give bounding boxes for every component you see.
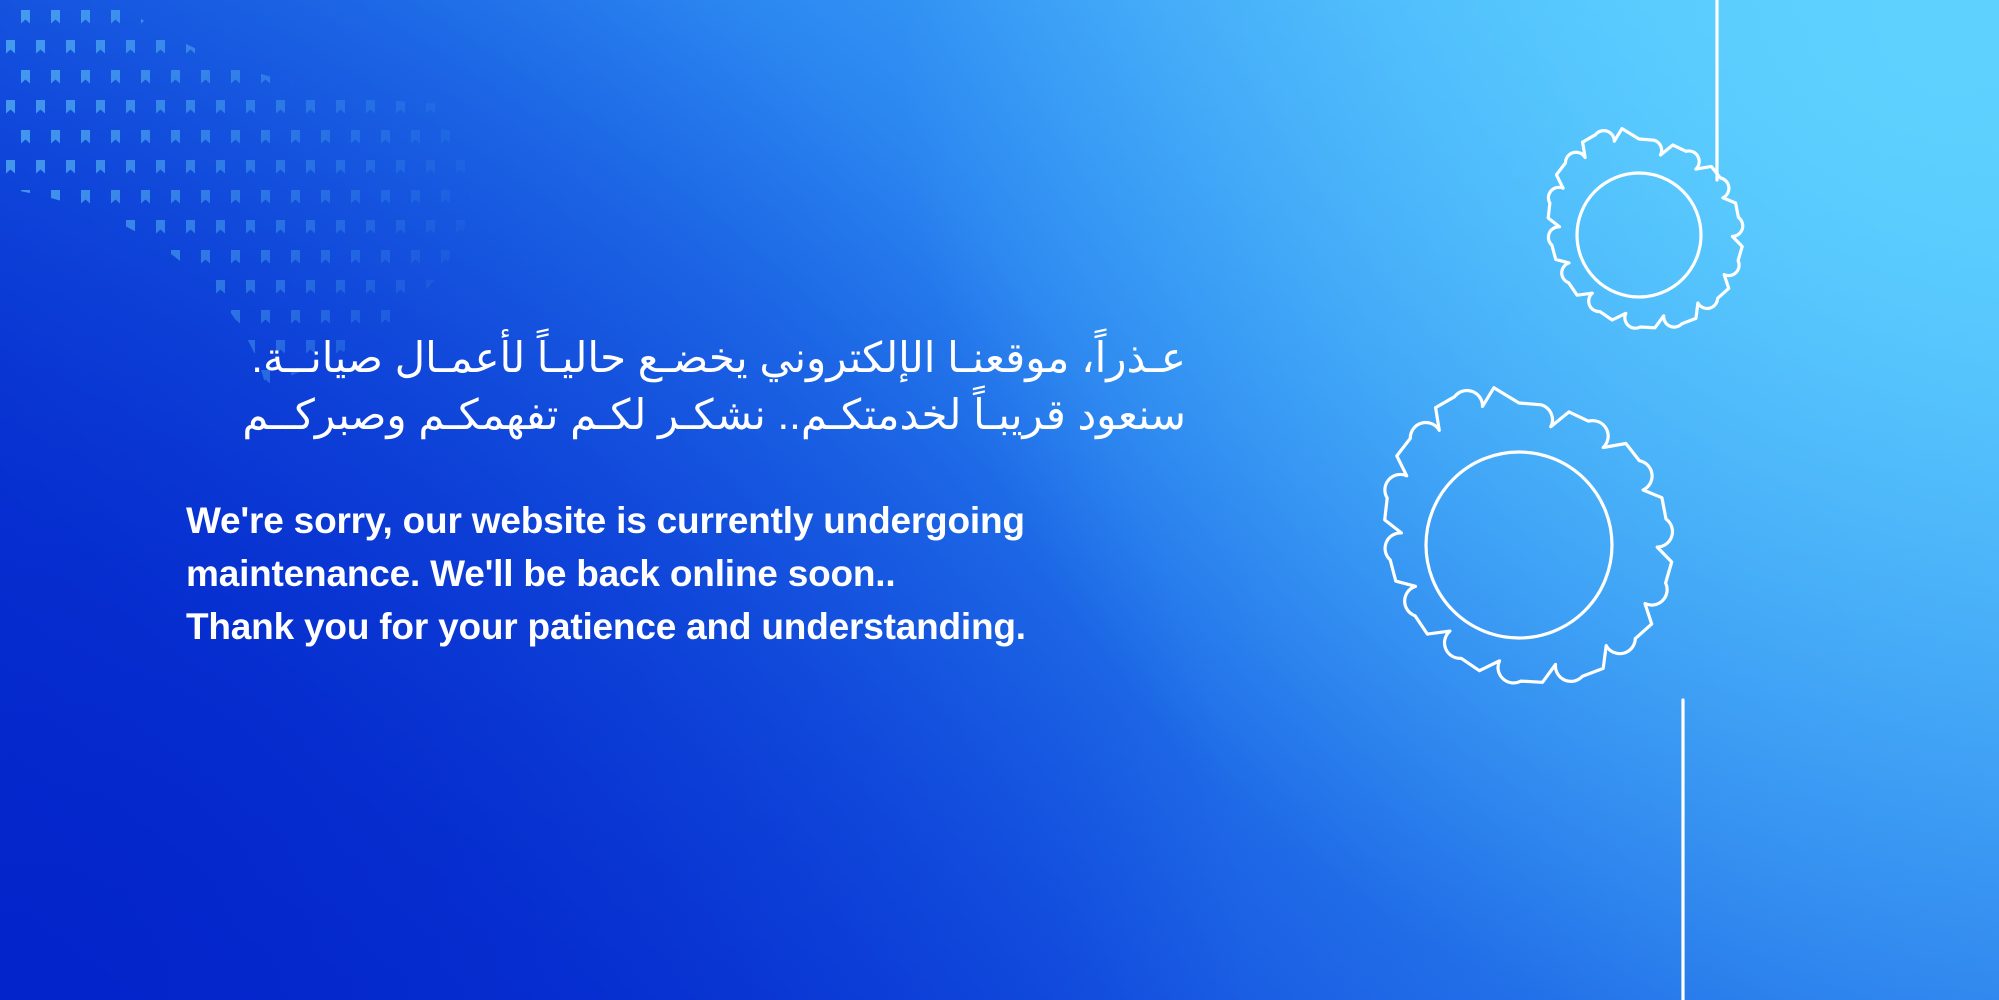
english-line-1: We're sorry, our website is currently un… bbox=[186, 495, 1186, 548]
arabic-line-2: سنعود قريبـاً لخدمتكـم.. نشكـر لكـم تفهم… bbox=[246, 387, 1186, 444]
english-line-2: maintenance. We'll be back online soon.. bbox=[186, 548, 1186, 601]
english-line-3: Thank you for your patience and understa… bbox=[186, 601, 1186, 654]
arabic-line-1: عـذراً، موقعنـا الإلكتروني يخضـع حاليـاً… bbox=[246, 330, 1186, 387]
arabic-message: عـذراً، موقعنـا الإلكتروني يخضـع حاليـاً… bbox=[246, 330, 1186, 443]
message-block: عـذراً، موقعنـا الإلكتروني يخضـع حاليـاً… bbox=[186, 330, 1186, 654]
english-message: We're sorry, our website is currently un… bbox=[186, 495, 1186, 654]
maintenance-page: عـذراً، موقعنـا الإلكتروني يخضـع حاليـاً… bbox=[0, 0, 1999, 1000]
